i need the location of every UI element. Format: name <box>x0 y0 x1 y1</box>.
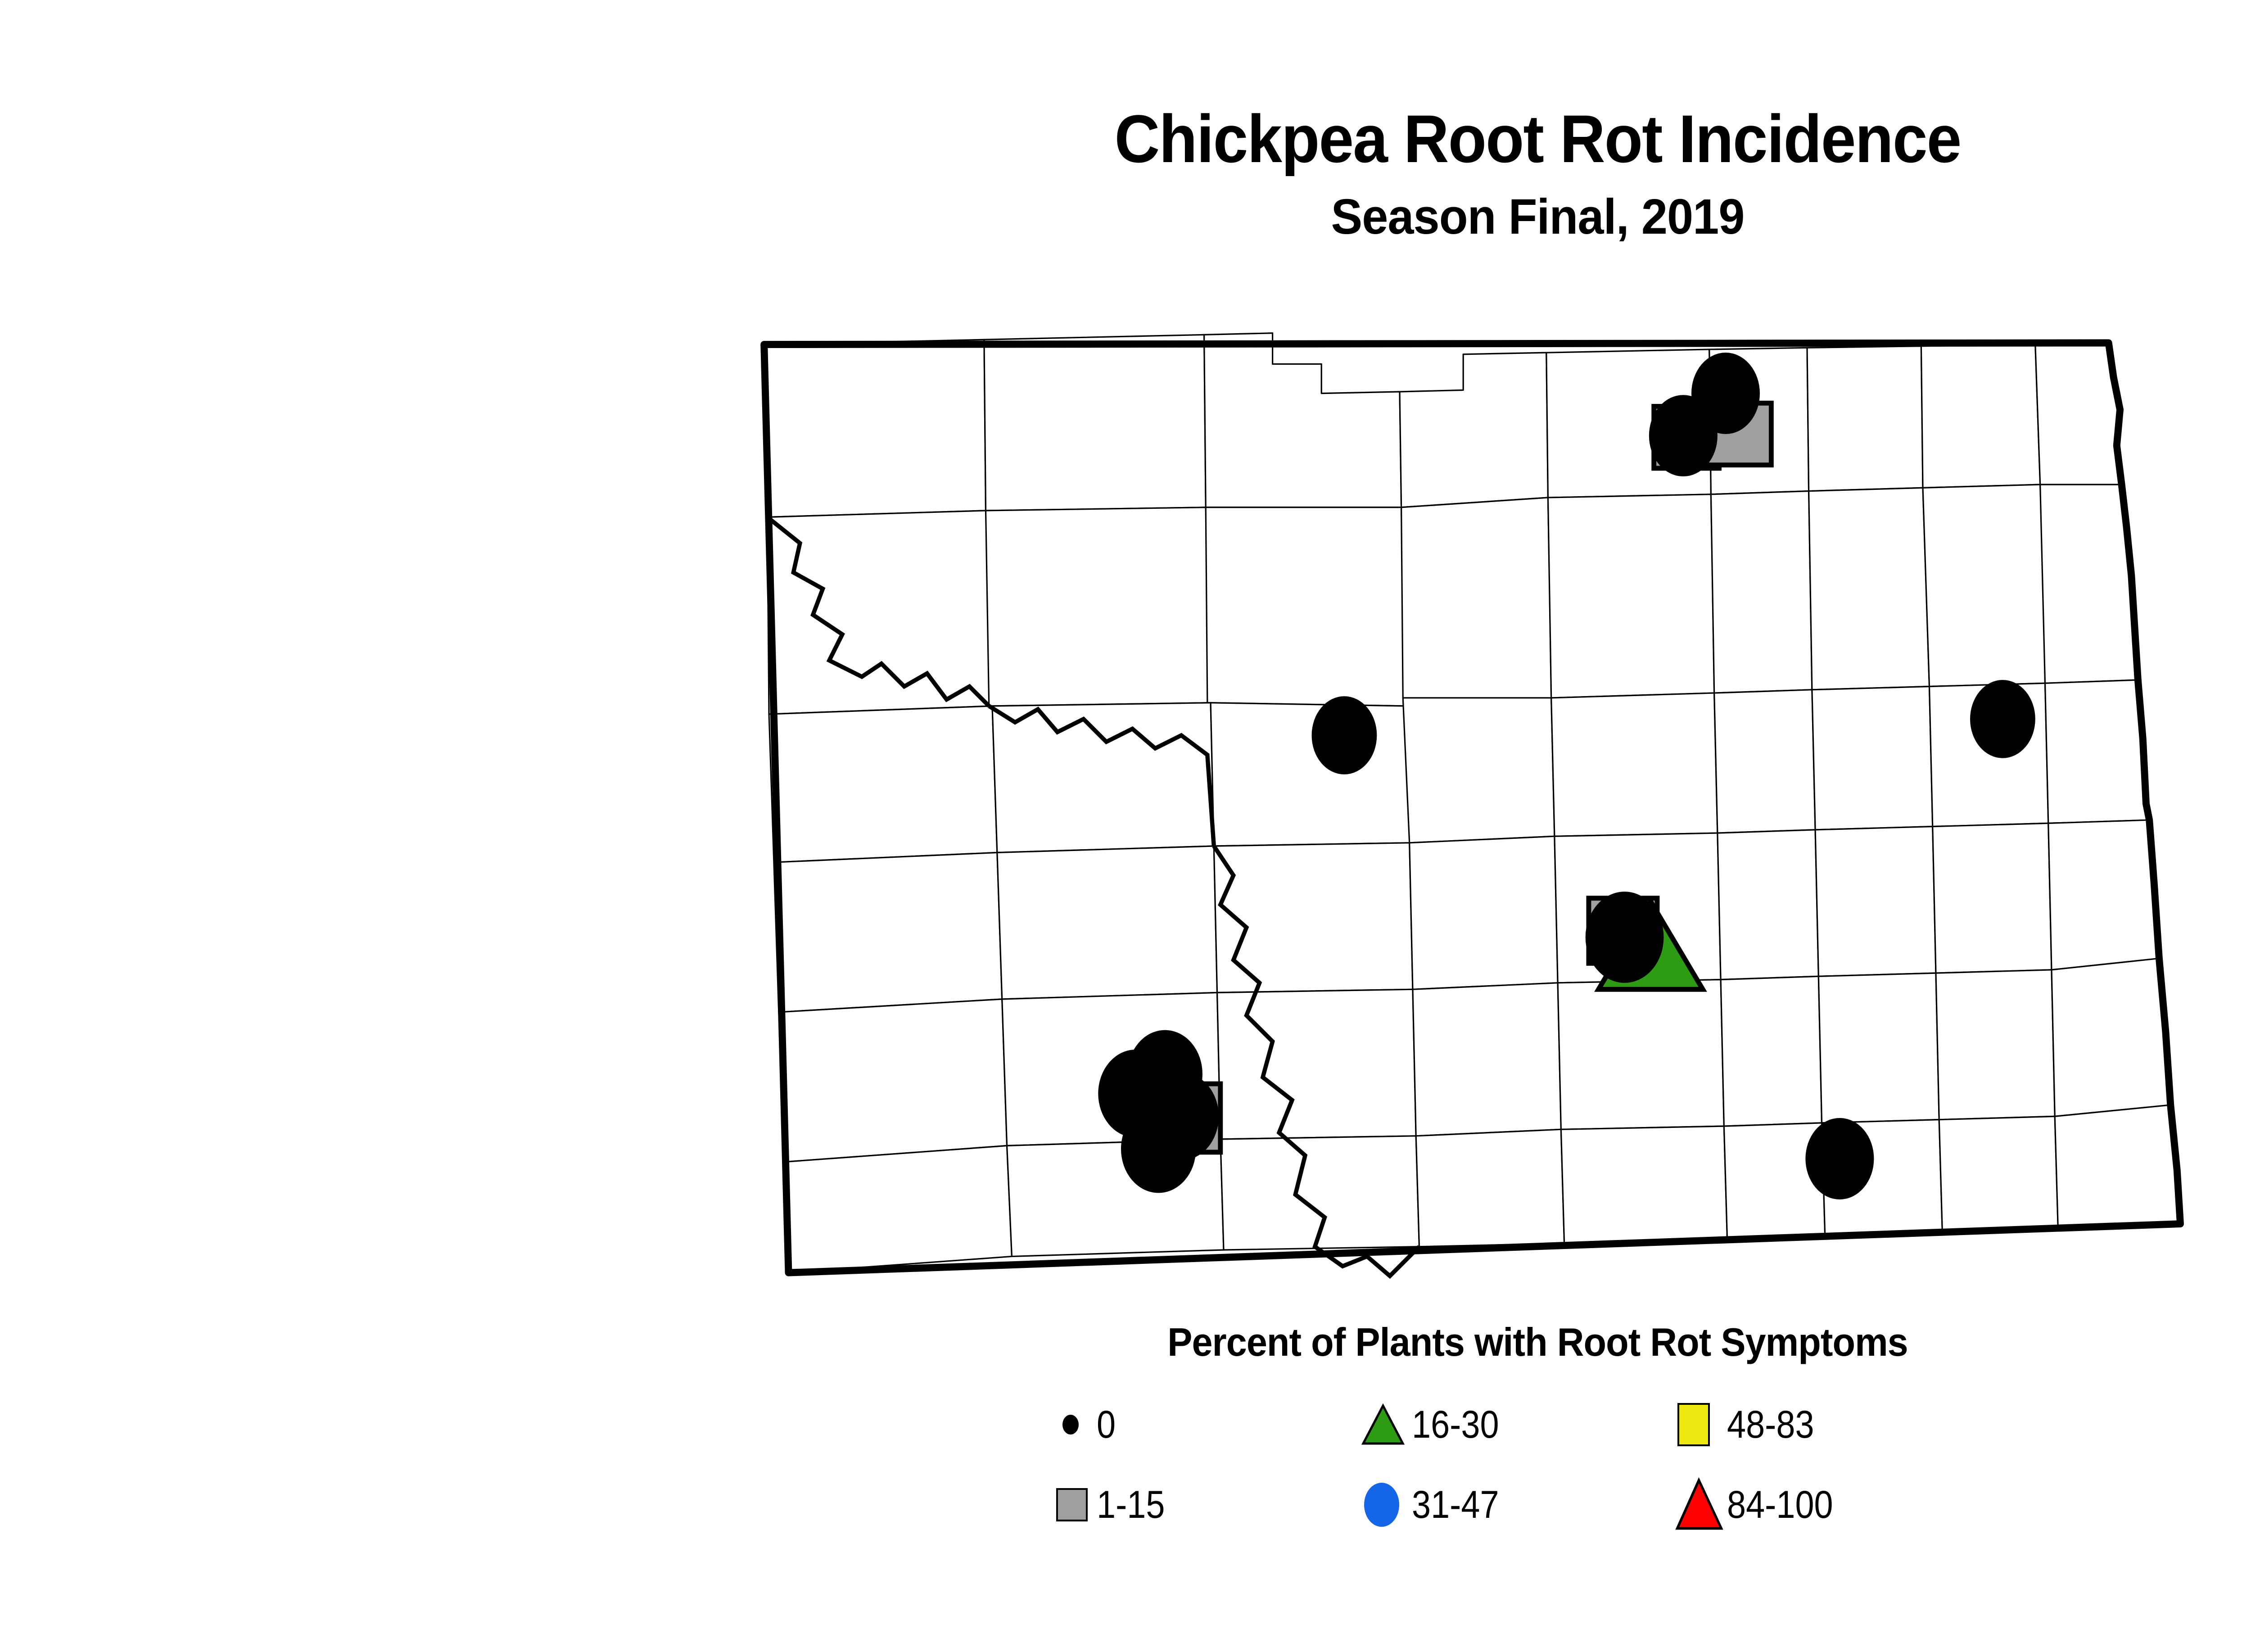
county <box>2045 680 2150 823</box>
county <box>779 999 1007 1162</box>
legend-item-31-47[interactable]: 31-47 <box>1360 1465 1675 1545</box>
legend-item-1-15[interactable]: 1-15 <box>1044 1465 1360 1545</box>
county <box>1818 973 1939 1123</box>
circle-black-icon <box>1062 1415 1079 1435</box>
legend-grid: 0 16-30 48-83 <box>1044 1385 2035 1545</box>
square-yellow-icon <box>1677 1403 1710 1446</box>
county-layer <box>764 333 2180 1273</box>
county <box>1718 830 1818 980</box>
legend-label: 16-30 <box>1412 1403 1499 1447</box>
county <box>1561 1126 1727 1243</box>
triangle-red-icon <box>1675 1475 1729 1534</box>
legend-label: 31-47 <box>1412 1483 1499 1527</box>
data-marker-0 <box>1121 1105 1196 1193</box>
map-figure: Chickpea Root Rot Incidence Season Final… <box>0 0 2251 1652</box>
county <box>1936 970 2055 1120</box>
county <box>1206 507 1406 706</box>
legend-label: 84-100 <box>1727 1483 1833 1527</box>
legend-label: 0 <box>1097 1403 1116 1447</box>
legend-row: 1-15 31-47 84-100 <box>1044 1465 2035 1545</box>
county <box>767 511 992 714</box>
circle-blue-icon <box>1364 1483 1399 1527</box>
data-marker-0 <box>1586 892 1664 983</box>
page-subtitle: Season Final, 2019 <box>77 191 2251 243</box>
legend-label: 1-15 <box>1097 1483 1165 1527</box>
county <box>1413 983 1561 1136</box>
map-svg <box>666 315 2251 1292</box>
legend: Percent of Plants with Root Rot Symptoms… <box>0 1319 2251 1365</box>
county <box>784 1146 1012 1273</box>
county <box>1551 693 1718 836</box>
legend-title: Percent of Plants with Root Rot Symptoms <box>92 1319 2251 1365</box>
county <box>1721 976 1822 1126</box>
county <box>1211 703 1410 846</box>
county <box>1933 823 2052 973</box>
legend-item-0[interactable]: 0 <box>1044 1385 1360 1465</box>
county <box>984 335 1206 511</box>
legend-swatch <box>1044 1478 1098 1532</box>
county <box>2048 820 2159 970</box>
county <box>1809 488 1930 689</box>
triangle-green-icon <box>1360 1402 1409 1447</box>
legend-swatch <box>1360 1398 1414 1452</box>
county <box>769 706 997 862</box>
county <box>764 339 985 517</box>
north-dakota-map <box>666 315 2251 1292</box>
legend-swatch <box>1044 1398 1098 1452</box>
county <box>1410 836 1558 989</box>
county <box>1416 1129 1564 1246</box>
legend-swatch <box>1675 1478 1729 1532</box>
county <box>2052 959 2170 1117</box>
county <box>2055 1105 2180 1230</box>
county <box>1401 498 1551 698</box>
legend-swatch <box>1360 1478 1414 1532</box>
data-marker-0 <box>1805 1118 1874 1199</box>
county <box>1923 484 2045 686</box>
legend-item-48-83[interactable]: 48-83 <box>1675 1385 1990 1465</box>
county <box>1812 687 1933 830</box>
county <box>1939 1116 2058 1233</box>
county <box>1400 353 1548 507</box>
county <box>1714 690 1815 833</box>
legend-item-84-100[interactable]: 84-100 <box>1675 1465 1990 1545</box>
legend-item-16-30[interactable]: 16-30 <box>1360 1385 1675 1465</box>
data-marker-0 <box>1649 395 1718 476</box>
county <box>992 703 1214 853</box>
data-marker-0 <box>1312 696 1377 774</box>
title-block: Chickpea Root Rot Incidence Season Final… <box>0 104 2251 243</box>
legend-label: 48-83 <box>1727 1403 1814 1447</box>
county <box>1921 344 2040 488</box>
county <box>1807 346 1923 491</box>
county <box>1548 494 1714 698</box>
county <box>997 846 1217 999</box>
county <box>1204 333 1401 507</box>
county <box>1711 491 1812 693</box>
county <box>1815 827 1936 977</box>
legend-swatch <box>1675 1398 1729 1452</box>
data-marker-0 <box>1970 680 2035 758</box>
county <box>1558 980 1724 1130</box>
county <box>1403 698 1555 843</box>
county <box>986 507 1211 706</box>
legend-row: 0 16-30 48-83 <box>1044 1385 2035 1465</box>
square-gray-icon <box>1056 1488 1088 1521</box>
page-title: Chickpea Root Rot Incidence <box>108 104 2251 175</box>
county <box>774 853 1002 1012</box>
